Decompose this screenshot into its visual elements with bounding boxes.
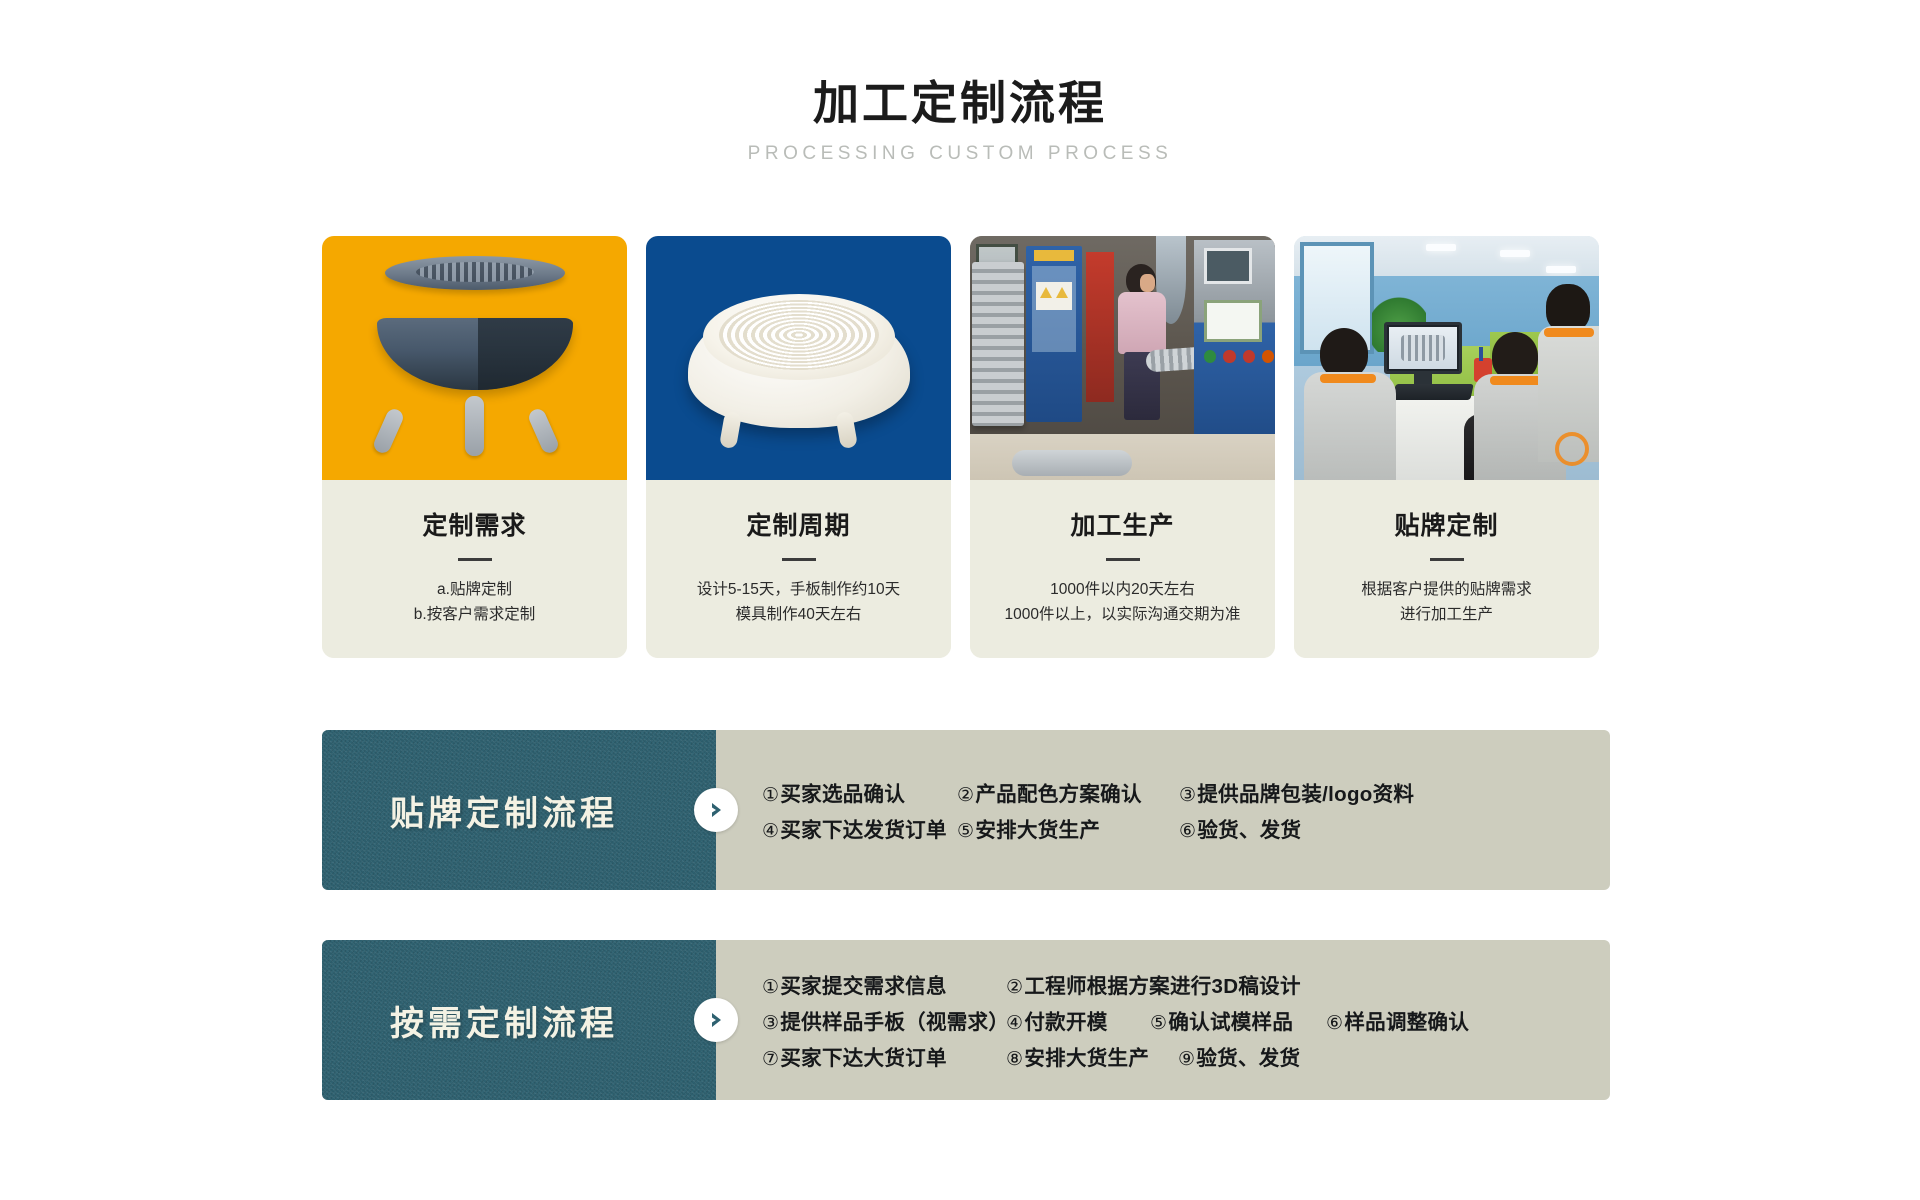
card-desc-line: b.按客户需求定制: [330, 602, 619, 627]
step-label: 安排大货生产: [975, 819, 1100, 842]
page-header: 加工定制流程 PROCESSING CUSTOM PROCESS: [0, 78, 1920, 165]
step-label: 买家下达大货订单: [780, 1047, 946, 1070]
step-item: ⑥验货、发货: [1179, 813, 1301, 843]
ceiling-light: [1426, 244, 1456, 251]
person-collar: [1544, 328, 1594, 337]
button-orange: [1262, 350, 1274, 363]
card-description: a.贴牌定制 b.按客户需求定制: [322, 577, 627, 627]
grill-bowl-shape: [377, 318, 573, 390]
step-label: 验货、发货: [1197, 819, 1301, 842]
prototype-foot-left: [719, 411, 742, 449]
factory-scene: [970, 236, 1275, 480]
prototype-spiral-shape: [719, 300, 879, 370]
step-number: ②: [1006, 976, 1023, 999]
step-number: ①: [762, 976, 779, 999]
step-number: ④: [1006, 1012, 1023, 1035]
step-number: ③: [1179, 784, 1196, 807]
step-label: 确认试模样品: [1168, 1011, 1293, 1034]
ondemand-process-banner: 按需定制流程 ①买家提交需求信息 ②工程师根据方案进行3D稿设计 ③提供样品手板…: [322, 940, 1610, 1100]
person-head: [1492, 332, 1538, 380]
exploded-grill-product-image: [322, 236, 627, 480]
step-item: ④付款开模: [1006, 1005, 1150, 1035]
process-card-4[interactable]: 贴牌定制 根据客户提供的贴牌需求 进行加工生产: [1294, 236, 1599, 658]
banner-title: 贴牌定制流程: [390, 786, 648, 835]
worker-face: [1140, 274, 1155, 292]
step-label: 验货、发货: [1196, 1047, 1300, 1070]
process-card-1[interactable]: 定制需求 a.贴牌定制 b.按客户需求定制: [322, 236, 627, 658]
card-desc-line: 设计5-15天，手板制作约10天: [654, 577, 943, 602]
step-label: 买家提交需求信息: [780, 975, 946, 998]
oem-process-banner: 贴牌定制流程 ①买家选品确认 ②产品配色方案确认 ③提供品牌包装/logo资料 …: [322, 730, 1610, 890]
step-row: ⑦买家下达大货订单 ⑧安排大货生产 ⑨验货、发货: [762, 1038, 1610, 1074]
control-display-lower: [1204, 300, 1262, 342]
step-item: ④买家下达发货订单: [762, 813, 957, 843]
step-item: ⑤确认试模样品: [1150, 1005, 1326, 1035]
step-item: ②工程师根据方案进行3D稿设计: [1006, 969, 1301, 999]
control-display-upper: [1204, 248, 1252, 284]
engineer-left: [1304, 328, 1396, 480]
step-row: ③提供样品手板（视需求） ④付款开模 ⑤确认试模样品 ⑥样品调整确认: [762, 1002, 1610, 1038]
step-item: ⑥样品调整确认: [1326, 1005, 1469, 1035]
step-number: ⑧: [1006, 1048, 1023, 1071]
step-row: ①买家提交需求信息 ②工程师根据方案进行3D稿设计: [762, 966, 1610, 1002]
white-prototype-product-image: [646, 236, 951, 480]
grill-lid-shape: [385, 256, 565, 290]
chevron-right-icon[interactable]: [694, 788, 738, 832]
banner-label-panel: 贴牌定制流程: [322, 730, 716, 890]
button-red-1: [1223, 350, 1235, 363]
button-green: [1204, 350, 1216, 363]
step-item: ①买家选品确认: [762, 777, 957, 807]
card-divider: [782, 558, 816, 561]
card-body: 贴牌定制 根据客户提供的贴牌需求 进行加工生产: [1294, 480, 1599, 658]
card-body: 定制周期 设计5-15天，手板制作约10天 模具制作40天左右: [646, 480, 951, 658]
card-title: 定制需求: [322, 506, 627, 542]
process-card-list: 定制需求 a.贴牌定制 b.按客户需求定制 定制周期 设: [322, 236, 1610, 658]
card-description: 根据客户提供的贴牌需求 进行加工生产: [1294, 577, 1599, 627]
card-desc-line: 模具制作40天左右: [654, 602, 943, 627]
ceiling-light: [1546, 266, 1576, 273]
banner-steps-panel: ①买家提交需求信息 ②工程师根据方案进行3D稿设计 ③提供样品手板（视需求） ④…: [716, 940, 1610, 1100]
step-row: ④买家下达发货订单 ⑤安排大货生产 ⑥验货、发货: [762, 810, 1610, 846]
step-number: ⑥: [1326, 1012, 1343, 1035]
card-desc-line: 1000件以内20天左右: [978, 577, 1267, 602]
page-title: 加工定制流程: [0, 78, 1920, 129]
step-item: ②产品配色方案确认: [957, 777, 1179, 807]
keyboard: [1392, 384, 1473, 400]
step-label: 工程师根据方案进行3D稿设计: [1024, 975, 1300, 998]
chevron-right-icon[interactable]: [694, 998, 738, 1042]
grill-leg-center: [465, 396, 484, 456]
step-label: 提供样品手板（视需求）: [780, 1011, 1009, 1034]
machine-yellow-label: [1034, 250, 1074, 261]
card-divider: [458, 558, 492, 561]
step-label: 买家下达发货订单: [780, 819, 946, 842]
person-head: [1320, 328, 1368, 378]
card-desc-line: 1000件以上，以实际沟通交期为准: [978, 602, 1267, 627]
person-head: [1546, 284, 1590, 332]
step-item: ⑨验货、发货: [1178, 1041, 1300, 1071]
factory-injection-molding-photo: [970, 236, 1275, 480]
process-card-2[interactable]: 定制周期 设计5-15天，手板制作约10天 模具制作40天左右: [646, 236, 951, 658]
step-item: ③提供品牌包装/logo资料: [1179, 777, 1414, 807]
button-red-2: [1243, 350, 1255, 363]
person-collar: [1320, 374, 1376, 383]
step-item: ①买家提交需求信息: [762, 969, 1006, 999]
step-number: ①: [762, 784, 779, 807]
card-title: 加工生产: [970, 506, 1275, 542]
step-number: ⑦: [762, 1048, 779, 1071]
card-desc-line: a.贴牌定制: [330, 577, 619, 602]
step-number: ②: [957, 784, 974, 807]
card-divider: [1430, 558, 1464, 561]
grill-leg-left: [371, 407, 405, 456]
card-title: 定制周期: [646, 506, 951, 542]
control-buttons: [1204, 350, 1274, 366]
office-scene: [1294, 236, 1599, 480]
card-body: 加工生产 1000件以内20天左右 1000件以上，以实际沟通交期为准: [970, 480, 1275, 658]
banner-title: 按需定制流程: [390, 996, 648, 1045]
banner-label-panel: 按需定制流程: [322, 940, 716, 1100]
card-body: 定制需求 a.贴牌定制 b.按客户需求定制: [322, 480, 627, 658]
card-title: 贴牌定制: [1294, 506, 1599, 542]
cad-screen-content: [1389, 327, 1457, 369]
card-description: 1000件以内20天左右 1000件以上，以实际沟通交期为准: [970, 577, 1275, 627]
step-label: 产品配色方案确认: [975, 783, 1141, 806]
step-number: ⑤: [1150, 1012, 1167, 1035]
step-number: ⑨: [1178, 1048, 1195, 1071]
warning-sign: [1036, 282, 1072, 310]
banner-steps-panel: ①买家选品确认 ②产品配色方案确认 ③提供品牌包装/logo资料 ④买家下达发货…: [716, 730, 1610, 890]
step-row: ①买家选品确认 ②产品配色方案确认 ③提供品牌包装/logo资料: [762, 774, 1610, 810]
step-item: ③提供样品手板（视需求）: [762, 1005, 1006, 1035]
person-body: [1304, 372, 1396, 480]
card-desc-line: 根据客户提供的贴牌需求: [1302, 577, 1591, 602]
company-logo-watermark-icon: [1555, 432, 1589, 466]
factory-worker: [1118, 264, 1166, 420]
step-label: 安排大货生产: [1024, 1047, 1149, 1070]
grill-leg-right: [526, 407, 560, 456]
step-item: ⑦买家下达大货订单: [762, 1041, 1006, 1071]
process-page: 加工定制流程 PROCESSING CUSTOM PROCESS 定制需求 a.…: [0, 0, 1920, 1200]
step-label: 付款开模: [1024, 1011, 1107, 1034]
step-number: ⑥: [1179, 820, 1196, 843]
page-subtitle: PROCESSING CUSTOM PROCESS: [0, 143, 1920, 165]
step-item: ⑤安排大货生产: [957, 813, 1179, 843]
step-label: 样品调整确认: [1344, 1011, 1469, 1034]
card-divider: [1106, 558, 1140, 561]
step-number: ④: [762, 820, 779, 843]
stacked-parts: [972, 262, 1024, 426]
step-label: 提供品牌包装/logo资料: [1197, 783, 1414, 806]
red-machine-column: [1086, 252, 1114, 402]
worker-shirt: [1118, 292, 1166, 354]
step-item: ⑧安排大货生产: [1006, 1041, 1178, 1071]
molded-part-on-floor: [1012, 450, 1132, 476]
office-cad-design-photo: [1294, 236, 1599, 480]
card-description: 设计5-15天，手板制作约10天 模具制作40天左右: [646, 577, 951, 627]
step-label: 买家选品确认: [780, 783, 905, 806]
step-number: ③: [762, 1012, 779, 1035]
ceiling-light: [1500, 250, 1530, 257]
process-card-3[interactable]: 加工生产 1000件以内20天左右 1000件以上，以实际沟通交期为准: [970, 236, 1275, 658]
step-number: ⑤: [957, 820, 974, 843]
card-desc-line: 进行加工生产: [1302, 602, 1591, 627]
